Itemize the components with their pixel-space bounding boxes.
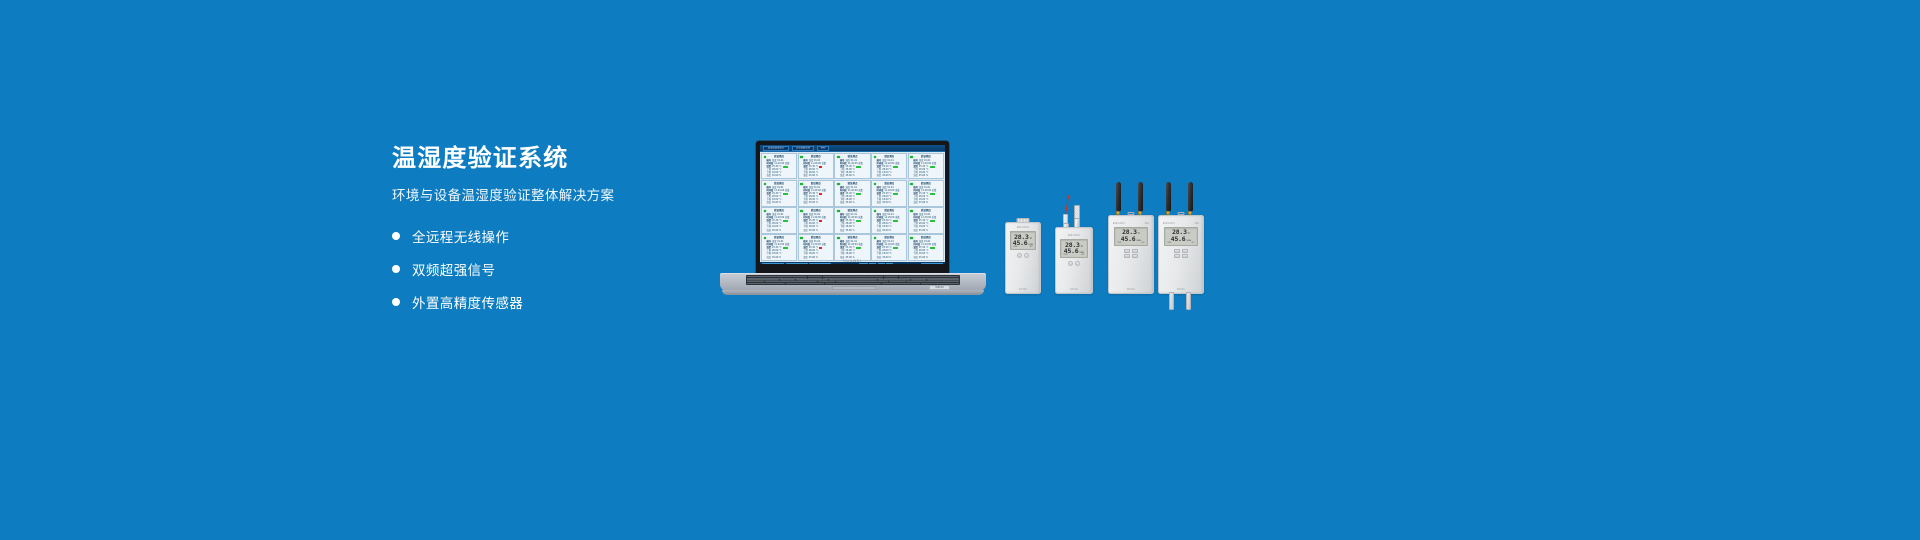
monitor-field-value: 45.60 % (919, 229, 928, 232)
keyboard-key[interactable] (940, 283, 959, 284)
monitor-card-title: 验证测点 (800, 209, 831, 212)
monitor-card[interactable]: 验证测点编号温度 01-01时间段11:20:00 采集温度25.30 ℃上限2… (834, 180, 870, 206)
laptop-screen: 温湿度数据监控 历史数据查询 帮助 验证测点编号温度 01-01时间段11:20… (760, 145, 945, 264)
monitor-card-title: 验证测点 (800, 182, 831, 185)
pagination-page-1[interactable]: 1 (869, 263, 876, 264)
logger-key-2[interactable] (1182, 249, 1188, 253)
status-led-icon (910, 156, 913, 159)
logger-key-left[interactable] (1017, 253, 1022, 258)
antenna-right-icon (1138, 182, 1143, 212)
lcd-right-label: REC (1082, 255, 1085, 256)
keyboard-key[interactable] (805, 283, 824, 284)
monitor-field-key: 湿度 (767, 174, 772, 177)
monitor-field-value: 45.60 % (882, 201, 891, 204)
logger-body: ENGON N3 28.3 ℃ 45.6 %RH TEMP REC (1108, 215, 1154, 294)
humidity-reading: 45.6 %RH (1167, 236, 1195, 242)
monitor-card[interactable]: 验证测点编号温度 01-01时间段11:20:00 采集温度25.30 ℃上限2… (761, 234, 797, 260)
logger-lcd-display: 28.3 ℃ 45.6 %RH TEMP REC (1114, 227, 1147, 246)
laptop-deck: WIN10 (720, 273, 986, 291)
pagination-page-3[interactable]: 3 (886, 263, 893, 264)
monitor-card[interactable]: 验证测点编号温度 01-01时间段11:20:00 采集温度25.30 ℃上限2… (834, 207, 870, 233)
humidity-value: 45.6 (1121, 236, 1136, 242)
monitor-card-title: 验证测点 (837, 209, 868, 212)
monitor-field-key: 湿度 (803, 174, 808, 177)
monitor-field-key: 湿度 (840, 229, 845, 232)
lcd-footer: TEMP REC (1063, 255, 1085, 256)
alarm-badge (819, 247, 821, 249)
humidity-unit: %RH (1136, 240, 1141, 242)
status-led-icon (837, 183, 840, 186)
alarm-badge (819, 220, 821, 222)
logger-brand-label: ENGON (1006, 227, 1040, 230)
keyboard-key[interactable] (901, 283, 920, 284)
logger-key-right[interactable] (1075, 261, 1080, 266)
app-tab-bar: 温湿度数据监控 历史数据查询 帮助 (760, 145, 945, 152)
monitor-field-key: 湿度 (840, 174, 845, 177)
status-badge (930, 247, 935, 249)
monitor-card[interactable]: 验证测点编号温度 01-01时间段11:20:00 采集温度25.30 ℃上限2… (761, 180, 797, 206)
monitor-field-row: 湿度45.60 % (764, 201, 795, 204)
logger-key-4[interactable] (1182, 254, 1188, 258)
antenna-left-icon (1116, 182, 1121, 212)
monitor-field-key: 湿度 (913, 201, 918, 204)
monitor-card-title: 验证测点 (764, 155, 795, 158)
humidity-reading: 45.6 %RH (1063, 248, 1085, 254)
monitor-card[interactable]: 验证测点编号温度 01-01时间段11:20:00 采集温度25.30 ℃上限2… (871, 153, 907, 179)
lcd-footer: TEMP REC (1117, 243, 1145, 244)
monitor-card[interactable]: 验证测点编号温度 01-01时间段11:20:00 采集温度25.30 ℃上限2… (798, 207, 834, 233)
hero-banner: 温湿度验证系统 环境与设备温湿度验证整体解决方案 全远程无线操作 双频超强信号 … (0, 0, 1920, 540)
monitor-card-title: 验证测点 (874, 155, 905, 158)
status-badge (893, 193, 898, 195)
status-led-icon (800, 183, 803, 186)
monitor-field-key: 湿度 (877, 174, 882, 177)
logger-brand-row: ENGON N3 (1109, 223, 1153, 226)
laptop-lid: 温湿度数据监控 历史数据查询 帮助 验证测点编号温度 01-01时间段11:20… (756, 141, 949, 275)
logger-brand-row: ENGON N3 (1159, 223, 1203, 226)
monitor-field-value: 45.60 % (845, 201, 854, 204)
lcd-right-label: REC (1030, 247, 1033, 248)
lcd-right-label: REC (1142, 243, 1145, 244)
logger-keypad[interactable] (1017, 253, 1030, 258)
status-badge (930, 193, 935, 195)
humidity-value: 45.6 (1064, 248, 1079, 254)
logger-model-badge: N3 (1145, 223, 1149, 226)
humidity-value: 45.6 (1013, 240, 1028, 246)
feature-label: 外置高精度传感器 (412, 292, 523, 312)
logger-lcd-display: 28.3 ℃ 45.6 %RH TEMP REC (1010, 231, 1036, 250)
monitor-field-key: 湿度 (877, 201, 882, 204)
logger-brand-label: ENGON (1113, 223, 1125, 226)
keyboard-key[interactable] (921, 283, 940, 284)
alarm-badge (819, 193, 821, 195)
refresh-button[interactable]: 数据刷新 (762, 263, 784, 264)
logger-lcd-display: 28.3 ℃ 45.6 %RH TEMP REC (1164, 227, 1197, 246)
monitor-field-row: 湿度45.60 % (764, 229, 795, 232)
temperature-unit: ℃ (1137, 233, 1139, 235)
monitor-field-row: 湿度45.60 % (910, 229, 941, 232)
monitor-card[interactable]: 验证测点编号温度 01-01时间段11:20:00 采集温度25.30 ℃上限2… (908, 207, 944, 233)
monitor-field-row: 湿度45.60 % (764, 174, 795, 177)
bottom-probe-right (1186, 292, 1191, 310)
monitor-field-key: 湿度 (803, 229, 808, 232)
page-subtitle: 环境与设备温湿度验证整体解决方案 (392, 187, 712, 206)
monitor-field-value: 45.60 % (845, 174, 854, 177)
status-badge (856, 220, 861, 222)
monitor-field-key: 湿度 (767, 229, 772, 232)
status-badge (893, 247, 898, 249)
monitor-field-row: 湿度45.60 % (837, 201, 868, 204)
monitor-field-row: 湿度45.60 % (910, 201, 941, 204)
logger-body: ENGON 28.3 ℃ 45.6 %RH TEMP REC N10 (1005, 222, 1041, 294)
monitor-field-key: 湿度 (840, 201, 845, 204)
laptop-brand-label: HUAWEI (760, 259, 945, 263)
humidity-value: 45.6 (1171, 236, 1186, 242)
status-badge (930, 166, 935, 168)
logger-key-left[interactable] (1068, 261, 1073, 266)
export-button[interactable]: 导出数据 (809, 263, 831, 264)
laptop-base-front (722, 290, 984, 295)
logger-keypad[interactable] (1174, 249, 1187, 258)
status-led-icon (910, 183, 913, 186)
keyboard-key[interactable] (882, 283, 901, 284)
alarm-badge (819, 166, 821, 168)
monitor-field-key: 湿度 (913, 174, 918, 177)
monitor-card[interactable]: 验证测点编号温度 01-01时间段11:20:00 采集温度25.30 ℃上限2… (798, 234, 834, 260)
humidity-reading: 45.6 %RH (1013, 240, 1034, 246)
lcd-left-label: TEMP (1063, 255, 1067, 256)
status-led-icon (910, 210, 913, 213)
logger-key-right[interactable] (1024, 253, 1029, 258)
monitor-field-row: 湿度45.60 % (837, 174, 868, 177)
tab-help[interactable]: 帮助 (817, 146, 829, 151)
monitor-field-key: 湿度 (803, 201, 808, 204)
lcd-right-label: REC (1192, 243, 1195, 244)
list-item: 双频超强信号 (392, 259, 712, 279)
logger-key-3[interactable] (1174, 254, 1180, 258)
monitor-field-row: 湿度45.60 % (800, 229, 831, 232)
monitor-card[interactable]: 验证测点编号温度 01-01时间段11:20:00 采集温度25.30 ℃上限2… (871, 207, 907, 233)
pagination-prev[interactable]: 上一页 (859, 263, 868, 264)
monitor-field-value: 45.60 % (882, 174, 891, 177)
logger-keypad[interactable] (1124, 249, 1137, 258)
monitor-card[interactable]: 验证测点编号温度 01-01时间段11:20:00 采集温度25.30 ℃上限2… (908, 180, 944, 206)
lcd-left-label: TEMP (1167, 243, 1171, 244)
logger-key-3[interactable] (1124, 254, 1130, 258)
antenna-left-icon (1166, 182, 1171, 212)
temperature-unit: ℃ (1080, 246, 1082, 248)
temperature-unit: ℃ (1187, 233, 1189, 235)
humidity-unit: %RH (1028, 244, 1033, 246)
humidity-unit: %RH (1186, 240, 1191, 242)
monitor-card[interactable]: 验证测点编号温度 01-01时间段11:20:00 采集温度25.30 ℃上限2… (908, 234, 944, 260)
lcd-left-label: TEMP (1013, 247, 1017, 248)
logger-brand-label: ENGON (1056, 235, 1092, 238)
monitor-card[interactable]: 验证测点编号温度 01-01时间段11:20:00 采集温度25.30 ℃上限2… (798, 180, 834, 206)
status-badge (856, 166, 861, 168)
monitor-field-row: 湿度45.60 % (910, 174, 941, 177)
antenna-right-icon (1188, 182, 1193, 212)
monitor-field-row: 湿度45.60 % (874, 174, 905, 177)
mesh-sensor-probe (1074, 205, 1080, 219)
monitor-field-row: 湿度45.60 % (837, 229, 868, 232)
logger-model-badge: N3 (1195, 223, 1199, 226)
status-badge (783, 220, 788, 222)
humidity-reading: 45.6 %RH (1117, 236, 1145, 242)
logger-model-label: N3000 (1127, 288, 1135, 291)
monitor-card-title: 验证测点 (837, 182, 868, 185)
status-led-icon (800, 156, 803, 159)
bullet-dot-icon (392, 232, 400, 240)
lcd-footer: TEMP REC (1013, 247, 1034, 248)
print-button[interactable]: 打印报表 (786, 263, 808, 264)
monitor-card-title: 验证测点 (910, 155, 941, 158)
wireless-logger-dual-band-probe: ENGON N3 28.3 ℃ 45.6 %RH TEMP REC (1158, 182, 1204, 312)
bullet-dot-icon (392, 298, 400, 306)
status-badge (783, 166, 788, 168)
logger-body: ENGON 28.3 ℃ 45.6 %RH TEMP REC N20 (1055, 227, 1093, 294)
monitor-card-title: 验证测点 (764, 209, 795, 212)
bullet-dot-icon (392, 265, 400, 273)
monitor-field-row: 湿度45.60 % (874, 201, 905, 204)
monitor-card-title: 验证测点 (910, 209, 941, 212)
monitor-field-row: 湿度45.60 % (800, 201, 831, 204)
logger-lcd-display: 28.3 ℃ 45.6 %RH TEMP REC (1060, 239, 1087, 258)
monitor-field-value: 45.60 % (809, 174, 818, 177)
monitor-field-key: 湿度 (877, 229, 882, 232)
logger-key-2[interactable] (1132, 249, 1138, 253)
laptop-keyboard[interactable] (746, 275, 960, 285)
status-badge (893, 166, 898, 168)
monitoring-grid: 验证测点编号温度 01-01时间段11:20:00 采集温度25.30 ℃上限2… (760, 152, 945, 262)
monitor-card-title: 验证测点 (764, 182, 795, 185)
hero-copy-block: 温湿度验证系统 环境与设备温湿度验证整体解决方案 全远程无线操作 双频超强信号 … (392, 143, 712, 325)
monitor-field-value: 45.60 % (809, 201, 818, 204)
humidity-unit: %RH (1079, 252, 1084, 254)
monitor-card[interactable]: 验证测点编号温度 01-01时间段11:20:00 采集温度25.30 ℃上限2… (871, 234, 907, 260)
status-badge (856, 247, 861, 249)
monitor-card[interactable]: 验证测点编号温度 01-01时间段11:20:00 采集温度25.30 ℃上限2… (834, 153, 870, 179)
logger-key-1[interactable] (1124, 249, 1130, 253)
status-badge (856, 193, 861, 195)
keyboard-key[interactable] (786, 283, 805, 284)
monitor-field-key: 湿度 (767, 201, 772, 204)
logger-key-1[interactable] (1174, 249, 1180, 253)
laptop-device: 温湿度数据监控 历史数据查询 帮助 验证测点编号温度 01-01时间段11:20… (720, 141, 986, 296)
tab-monitoring[interactable]: 温湿度数据监控 (763, 146, 789, 151)
monitor-card-title: 验证测点 (874, 209, 905, 212)
data-logger-external-probe: ENGON 28.3 ℃ 45.6 %RH TEMP REC N20 (1055, 195, 1093, 294)
monitor-card[interactable]: 验证测点编号温度 01-01时间段11:20:00 采集温度25.30 ℃上限2… (834, 234, 870, 260)
logger-brand-label: ENGON (1163, 223, 1175, 226)
laptop-base: WIN10 (720, 273, 986, 296)
status-led-icon (764, 183, 767, 186)
monitor-field-value: 45.60 % (919, 201, 928, 204)
list-item: 外置高精度传感器 (392, 292, 712, 312)
keyboard-row (747, 283, 959, 284)
status-led-icon (910, 237, 913, 240)
monitor-field-value: 45.60 % (882, 229, 891, 232)
status-badge (783, 247, 788, 249)
monitor-field-value: 45.60 % (845, 229, 854, 232)
feature-list: 全远程无线操作 双频超强信号 外置高精度传感器 (392, 226, 712, 312)
logger-key-4[interactable] (1132, 254, 1138, 258)
logger-model-label: N2000 (1070, 288, 1078, 291)
status-badge (930, 220, 935, 222)
status-led-icon (800, 210, 803, 213)
data-logger-compact: ENGON 28.3 ℃ 45.6 %RH TEMP REC N10 (1005, 218, 1041, 294)
temperature-unit: ℃ (1029, 238, 1031, 240)
monitor-field-key: 湿度 (913, 229, 918, 232)
tab-history[interactable]: 历史数据查询 (792, 146, 814, 151)
monitor-card[interactable]: 验证测点编号温度 01-01时间段11:20:00 采集温度25.30 ℃上限2… (761, 153, 797, 179)
monitor-card[interactable]: 验证测点编号温度 01-01时间段11:20:00 采集温度25.30 ℃上限2… (798, 153, 834, 179)
monitor-field-value: 45.60 % (919, 174, 928, 177)
monitor-field-value: 45.60 % (809, 229, 818, 232)
monitor-field-value: 45.60 % (772, 201, 781, 204)
list-item: 全远程无线操作 (392, 226, 712, 246)
logger-keypad[interactable] (1068, 261, 1081, 266)
monitor-field-row: 湿度45.60 % (874, 229, 905, 232)
keyboard-key[interactable] (747, 283, 766, 284)
keyboard-key[interactable] (766, 283, 785, 284)
monitor-field-value: 45.60 % (772, 174, 781, 177)
exit-button[interactable]: 退出系统 (921, 263, 943, 264)
bottom-probe-left (1169, 292, 1174, 310)
feature-label: 双频超强信号 (412, 259, 495, 279)
monitor-card-title: 验证测点 (910, 182, 941, 185)
probe-cable (1065, 195, 1069, 215)
lcd-left-label: TEMP (1117, 243, 1121, 244)
monitor-card-title: 验证测点 (874, 182, 905, 185)
monitor-field-value: 45.60 % (772, 229, 781, 232)
monitor-card[interactable]: 验证测点编号温度 01-01时间段11:20:00 采集温度25.30 ℃上限2… (908, 153, 944, 179)
pagination-page-2[interactable]: 2 (878, 263, 885, 264)
monitor-card[interactable]: 验证测点编号温度 01-01时间段11:20:00 采集温度25.30 ℃上限2… (871, 180, 907, 206)
status-led-icon (837, 210, 840, 213)
page-title: 温湿度验证系统 (392, 143, 712, 173)
wireless-logger-dual-band: ENGON N3 28.3 ℃ 45.6 %RH TEMP REC (1108, 182, 1154, 294)
keyboard-key[interactable] (825, 283, 882, 284)
monitor-card[interactable]: 验证测点编号温度 01-01时间段11:20:00 采集温度25.30 ℃上限2… (761, 207, 797, 233)
logger-model-label: N3000 (1177, 288, 1185, 291)
monitor-card-title: 验证测点 (837, 155, 868, 158)
logger-body: ENGON N3 28.3 ℃ 45.6 %RH TEMP REC (1158, 215, 1204, 294)
lcd-footer: TEMP REC (1167, 243, 1195, 244)
logger-model-label: N1000 (1019, 288, 1027, 291)
status-badge (893, 220, 898, 222)
monitor-field-row: 湿度45.60 % (800, 174, 831, 177)
status-badge (783, 193, 788, 195)
feature-label: 全远程无线操作 (412, 226, 509, 246)
monitor-card-title: 验证测点 (800, 155, 831, 158)
